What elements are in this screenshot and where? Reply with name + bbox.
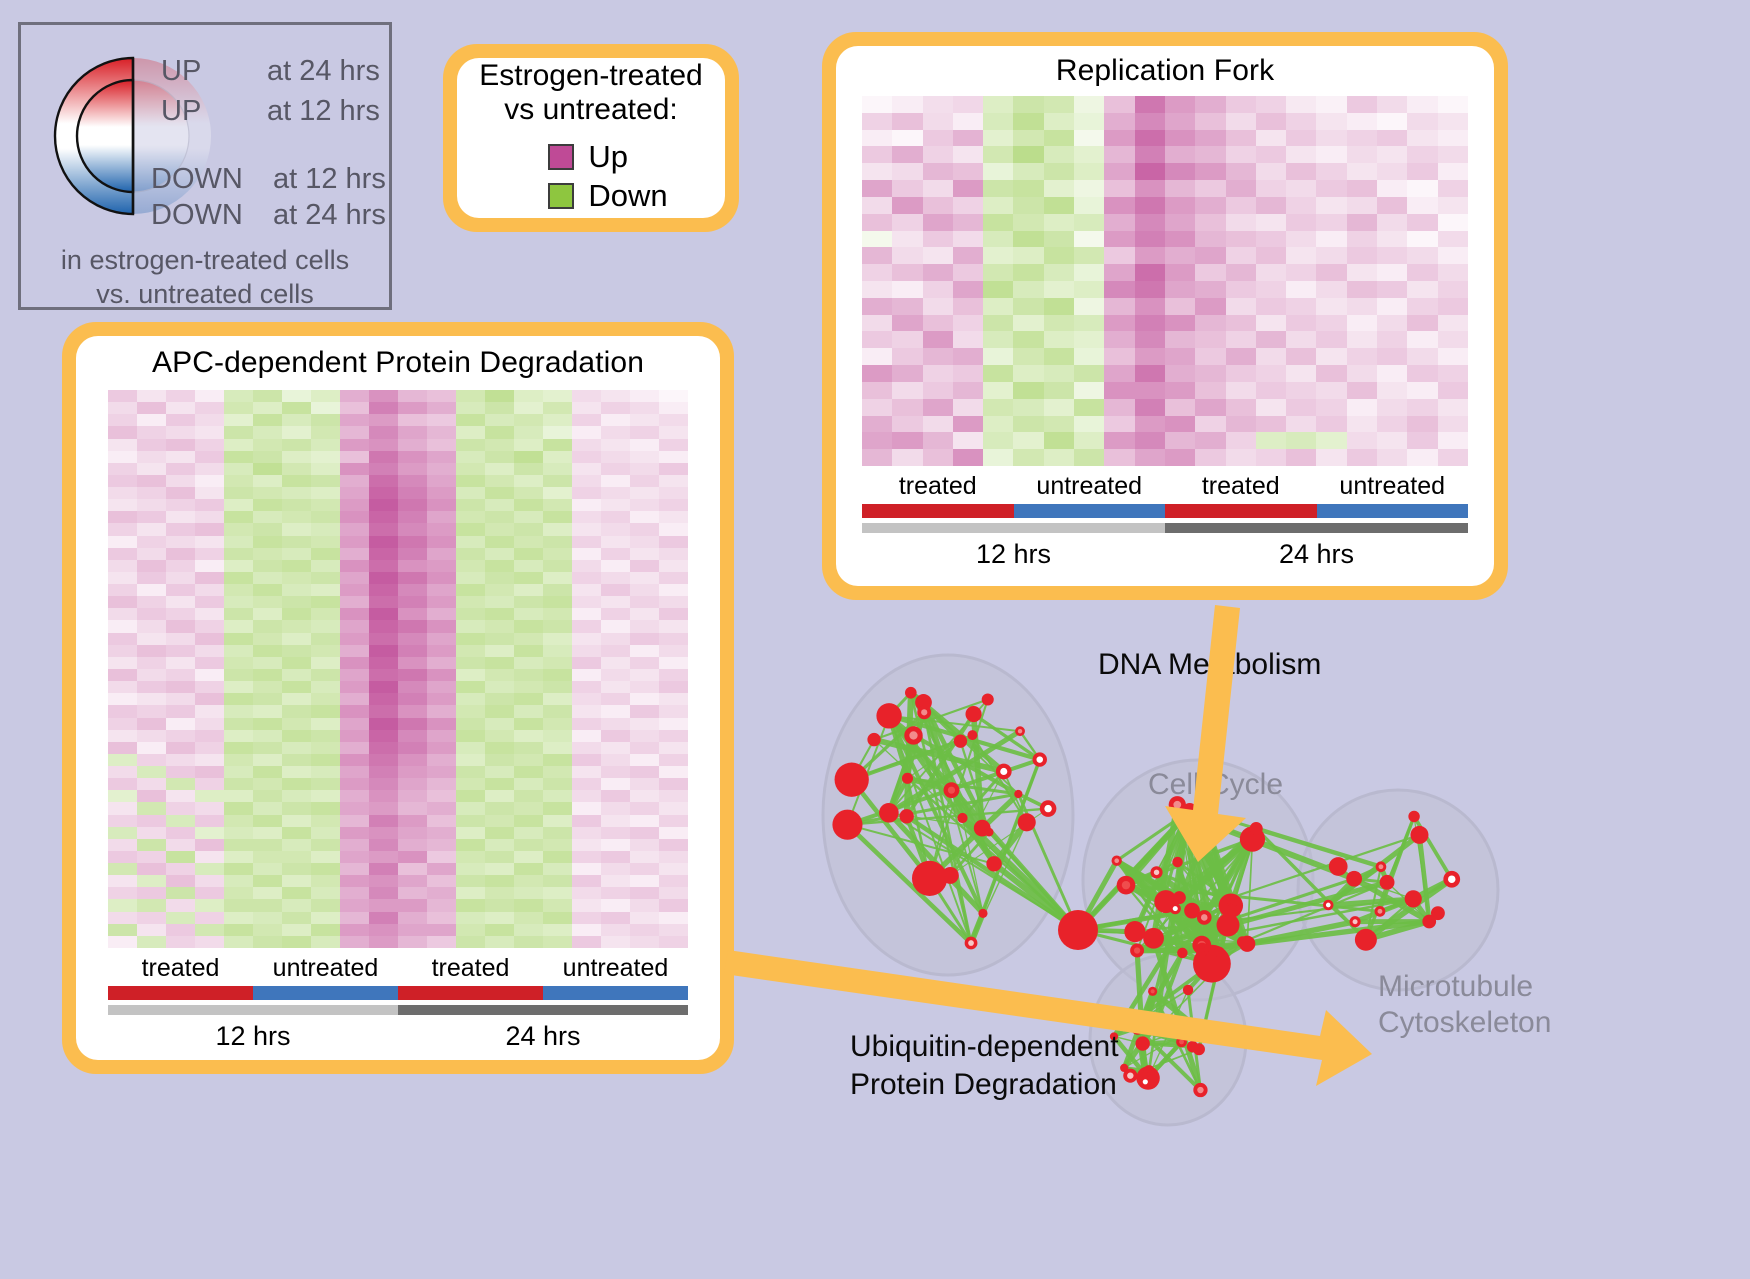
- network-node[interactable]: [1250, 822, 1263, 835]
- network-node-core: [1188, 907, 1195, 914]
- network-node-core: [1426, 918, 1432, 924]
- network-node-core: [1173, 906, 1178, 911]
- treatment-colorbar-replication: [862, 504, 1468, 518]
- treatment-label: treated: [398, 954, 543, 983]
- time-labels-apc: 12 hrs24 hrs: [108, 1015, 688, 1052]
- treatment-label: untreated: [1317, 472, 1469, 501]
- network-node[interactable]: [1124, 921, 1145, 942]
- up-down-key-box: Estrogen-treated vs untreated: Up Down: [443, 44, 739, 232]
- network-node-core: [1412, 814, 1417, 819]
- network-node-core: [1379, 864, 1384, 869]
- network-node[interactable]: [1329, 857, 1348, 876]
- network-node[interactable]: [1410, 826, 1428, 844]
- network-node-core: [1134, 947, 1140, 953]
- time-label: 12 hrs: [108, 1021, 398, 1052]
- network-node[interactable]: [1058, 910, 1098, 950]
- network-node[interactable]: [1177, 948, 1188, 959]
- time-colorbar-replication: [862, 523, 1468, 533]
- treatment-bar-segment: [543, 986, 688, 1000]
- heatmap-replication-fork: [862, 96, 1468, 466]
- network-node-core: [1016, 792, 1020, 796]
- treatment-bar-segment: [862, 504, 1014, 518]
- network-node[interactable]: [1131, 1022, 1144, 1035]
- network-node-core: [921, 709, 927, 715]
- cluster-label-microtubule-l2: Cytoskeleton: [1378, 1006, 1551, 1041]
- legend-dir-1: UP: [161, 97, 201, 126]
- halo-microtubule: [1298, 790, 1498, 990]
- network-node[interactable]: [942, 867, 959, 884]
- cluster-label-dna-metabolism: DNA Metabolism: [1098, 648, 1321, 683]
- network-node[interactable]: [1214, 947, 1224, 957]
- network-node[interactable]: [982, 693, 994, 705]
- network-node[interactable]: [912, 861, 947, 896]
- network-node-core: [1151, 989, 1155, 993]
- network-node[interactable]: [902, 773, 913, 784]
- treatment-bar-segment: [1317, 504, 1469, 518]
- time-bar-segment: [108, 1005, 398, 1015]
- time-bar-segment: [862, 523, 1165, 533]
- time-labels-replication: 12 hrs24 hrs: [862, 533, 1468, 570]
- legend-time-3: at 24 hrs: [273, 201, 386, 230]
- network-node-core: [1205, 828, 1212, 835]
- cluster-label-ubiquitin-l1: Ubiquitin-dependent: [850, 1030, 1119, 1065]
- network-node-core: [1143, 1079, 1148, 1084]
- down-swatch-icon: [548, 183, 574, 209]
- network-node-core: [1023, 818, 1031, 826]
- network-node-core: [1018, 729, 1022, 733]
- network-node[interactable]: [965, 706, 981, 722]
- legend-dir-2: DOWN: [151, 165, 243, 194]
- annotation-strip-apc: treateduntreatedtreateduntreated 12 hrs2…: [108, 948, 688, 1052]
- network-node[interactable]: [1405, 890, 1422, 907]
- treatment-bar-segment: [108, 986, 253, 1000]
- network-node-core: [909, 731, 917, 739]
- network-node[interactable]: [985, 828, 994, 837]
- up-swatch-icon: [548, 144, 574, 170]
- network-node-core: [1127, 1072, 1133, 1078]
- network-node-core: [1351, 875, 1358, 882]
- network-node[interactable]: [1182, 803, 1198, 819]
- key-label-up: Up: [588, 139, 628, 175]
- network-node[interactable]: [957, 813, 967, 823]
- network-node-core: [1199, 947, 1205, 953]
- legend-note-line2: vs. untreated cells: [21, 277, 389, 312]
- network-node[interactable]: [1135, 1036, 1149, 1050]
- heatmap-apc-degradation: [108, 390, 688, 948]
- network-node[interactable]: [1183, 985, 1193, 995]
- treatment-labels-replication: treateduntreatedtreateduntreated: [862, 466, 1468, 504]
- network-node-core: [1378, 909, 1383, 914]
- treatment-bar-segment: [1014, 504, 1166, 518]
- legend-time-2: at 12 hrs: [273, 165, 386, 194]
- treatment-label: treated: [108, 954, 253, 983]
- key-heading-line1: Estrogen-treated: [479, 59, 702, 93]
- legend-note-line1: in estrogen-treated cells: [21, 243, 389, 278]
- network-node[interactable]: [867, 733, 880, 746]
- network-node[interactable]: [1239, 936, 1255, 952]
- network-node-core: [1036, 756, 1042, 762]
- panel-title-apc: APC-dependent Protein Degradation: [152, 346, 644, 380]
- treatment-bar-segment: [398, 986, 543, 1000]
- treatment-label: untreated: [1014, 472, 1166, 501]
- network-node[interactable]: [1380, 875, 1395, 890]
- key-row-up: Up: [548, 139, 667, 175]
- treatment-label: untreated: [253, 954, 398, 983]
- treatment-bar-segment: [1165, 504, 1317, 518]
- panel-title-replication: Replication Fork: [1056, 54, 1274, 88]
- network-node[interactable]: [1193, 1043, 1205, 1055]
- network-node-core: [1044, 805, 1051, 812]
- network-node-core: [1000, 768, 1007, 775]
- network-node[interactable]: [832, 810, 862, 840]
- network-node-core: [1353, 919, 1358, 924]
- network-node-core: [1192, 1024, 1198, 1030]
- network-node-core: [1230, 900, 1235, 905]
- treatment-bar-segment: [253, 986, 398, 1000]
- time-bar-segment: [398, 1005, 688, 1015]
- treatment-label: treated: [1165, 472, 1317, 501]
- network-node-core: [1179, 1039, 1184, 1044]
- network-node[interactable]: [1355, 929, 1377, 951]
- network-node-core: [1122, 881, 1130, 889]
- time-label: 12 hrs: [862, 539, 1165, 570]
- time-label: 24 hrs: [1165, 539, 1468, 570]
- network-node[interactable]: [954, 734, 967, 747]
- network-node-core: [884, 808, 893, 817]
- network-node[interactable]: [905, 687, 917, 699]
- network-node-core: [1114, 858, 1119, 863]
- network-node-core: [1201, 914, 1208, 921]
- treatment-colorbar-apc: [108, 986, 688, 1000]
- network-node-core: [1197, 1087, 1203, 1093]
- panel-apc-degradation: APC-dependent Protein Degradation treate…: [62, 322, 734, 1074]
- network-node[interactable]: [978, 909, 987, 918]
- panel-replication-fork: Replication Fork treateduntreatedtreated…: [822, 32, 1508, 600]
- network-node[interactable]: [1143, 928, 1164, 949]
- time-colorbar-apc: [108, 1005, 688, 1015]
- network-node[interactable]: [967, 730, 977, 740]
- treatment-label: treated: [862, 472, 1014, 501]
- network-node-core: [948, 787, 955, 794]
- network-node[interactable]: [986, 856, 1001, 871]
- legend-dir-0: UP: [161, 57, 201, 86]
- key-heading-line2: vs untreated:: [479, 93, 702, 127]
- network-node-core: [1154, 870, 1159, 875]
- network-node[interactable]: [1120, 1064, 1128, 1072]
- key-label-down: Down: [588, 178, 667, 214]
- network-node-core: [968, 940, 974, 946]
- network-node[interactable]: [835, 763, 869, 797]
- time-bar-segment: [1165, 523, 1468, 533]
- legend-dir-3: DOWN: [151, 201, 243, 230]
- network-node-core: [1326, 903, 1331, 908]
- scale-legend-box: UP at 24 hrs UP at 12 hrs DOWN at 12 hrs…: [18, 22, 392, 310]
- legend-time-1: at 12 hrs: [267, 97, 380, 126]
- treatment-label: untreated: [543, 954, 688, 983]
- network-node[interactable]: [899, 809, 913, 823]
- time-label: 24 hrs: [398, 1021, 688, 1052]
- network-node-core: [1147, 1068, 1152, 1073]
- network-node-core: [1154, 1021, 1159, 1026]
- cluster-label-ubiquitin-l2: Protein Degradation: [850, 1068, 1117, 1103]
- annotation-strip-replication: treateduntreatedtreateduntreated 12 hrs2…: [862, 466, 1468, 570]
- key-row-down: Down: [548, 178, 667, 214]
- network-node[interactable]: [1173, 891, 1186, 904]
- network-node[interactable]: [1172, 857, 1183, 868]
- pathway-network-graph: DNA Metabolism Cell Cycle Microtubule Cy…: [778, 600, 1578, 1160]
- legend-time-0: at 24 hrs: [267, 57, 380, 86]
- network-node-core: [1448, 875, 1456, 883]
- cluster-label-cell-cycle: Cell Cycle: [1148, 768, 1283, 803]
- treatment-labels-apc: treateduntreatedtreateduntreated: [108, 948, 688, 986]
- cluster-label-microtubule-l1: Microtubule: [1378, 970, 1533, 1005]
- network-node[interactable]: [876, 703, 901, 728]
